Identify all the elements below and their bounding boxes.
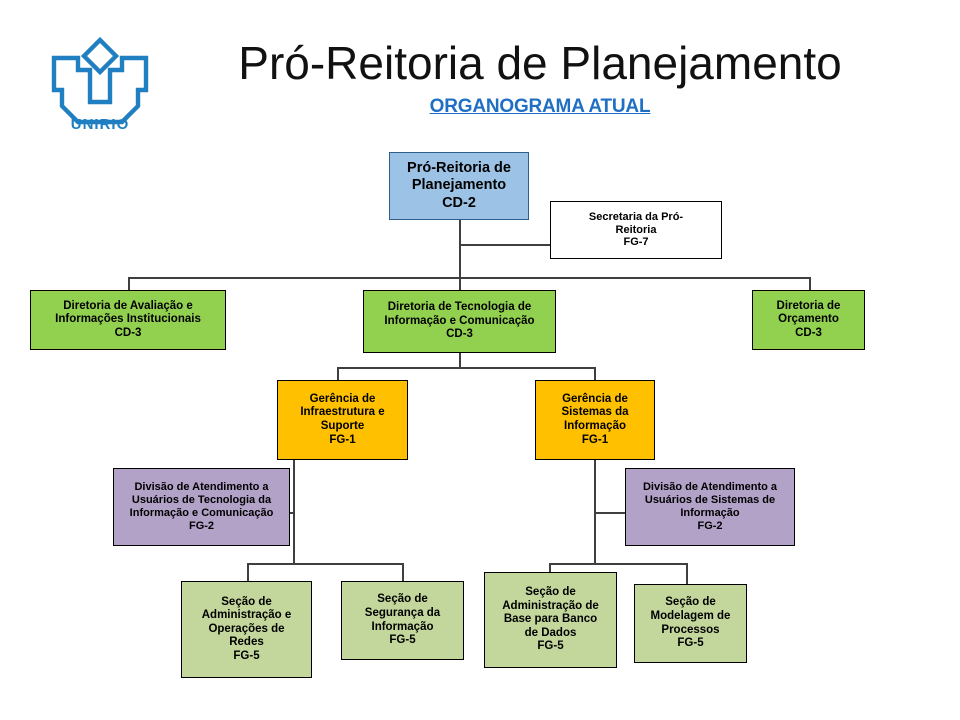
connector-gis-up (337, 367, 339, 380)
node-code: CD-3 (367, 328, 552, 342)
node-line: Diretoria de Avaliação e (34, 300, 222, 314)
node-line: Informação e Comunicação (117, 507, 286, 520)
node-line: Administração e (185, 609, 308, 623)
node-line: Sistemas da (539, 406, 651, 420)
node-gerencia-infraestrutura-suporte[interactable]: Gerência de Infraestrutura e Suporte FG-… (277, 380, 408, 460)
node-secao-administracao-operacoes-redes[interactable]: Seção de Administração e Operações de Re… (181, 581, 312, 678)
node-line: Reitoria (554, 224, 718, 237)
node-line: Diretoria de (756, 300, 861, 314)
node-line: Seção de (488, 586, 613, 600)
node-pro-reitoria-planejamento[interactable]: Pró-Reitoria de Planejamento CD-2 (389, 152, 529, 220)
node-line: Diretoria de Tecnologia de (367, 301, 552, 315)
node-divisao-atendimento-usuarios-sistemas[interactable]: Divisão de Atendimento a Usuários de Sis… (625, 468, 795, 546)
node-code: FG-2 (117, 520, 286, 533)
node-line: Seção de (185, 596, 308, 610)
node-line: Usuários de Tecnologia da (117, 494, 286, 507)
node-line: Processos (638, 624, 743, 638)
node-line: Administração de (488, 600, 613, 614)
node-line: Usuários de Sistemas de (629, 494, 791, 507)
node-line: Planejamento (393, 177, 525, 194)
node-code: FG-5 (488, 640, 613, 654)
node-divisao-atendimento-usuarios-tic[interactable]: Divisão de Atendimento a Usuários de Tec… (113, 468, 290, 546)
node-secretaria-pro-reitoria[interactable]: Secretaria da Pró- Reitoria FG-7 (550, 201, 722, 259)
node-line: Operações de (185, 623, 308, 637)
node-line: Informação (345, 621, 460, 635)
node-code: FG-5 (185, 650, 308, 664)
node-line: Informação (539, 420, 651, 434)
node-line: Seção de (345, 593, 460, 607)
node-code: FG-7 (554, 236, 718, 249)
node-line: Gerência de (281, 393, 404, 407)
node-code: FG-1 (281, 434, 404, 448)
node-code: FG-2 (629, 520, 791, 533)
connector-gsi-up (594, 367, 596, 380)
node-code: CD-3 (34, 327, 222, 341)
node-secao-administracao-banco-dados[interactable]: Seção de Administração de Base para Banc… (484, 572, 617, 668)
connector-ssi-up (402, 563, 404, 581)
connector-sabbd-up (549, 563, 551, 572)
connector-saor-up (247, 563, 249, 581)
node-line: Pró-Reitoria de (393, 160, 525, 177)
connector-dorc-up (809, 277, 811, 290)
page-subtitle: ORGANOGRAMA ATUAL (190, 96, 890, 118)
node-line: Infraestrutura e (281, 406, 404, 420)
logo-wordmark: UNIRIO (44, 116, 156, 133)
connector-daii-up (128, 277, 130, 290)
connector-gis-level4-bus (247, 563, 403, 565)
node-line: Informação e Comunicação (367, 315, 552, 329)
node-line: Divisão de Atendimento a (629, 481, 791, 494)
organogram-slide: UNIRIO Pró-Reitoria de Planejamento ORGA… (0, 0, 960, 720)
node-line: Gerência de (539, 393, 651, 407)
unirio-logo: UNIRIO (44, 28, 156, 140)
node-diretoria-orcamento[interactable]: Diretoria de Orçamento CD-3 (752, 290, 865, 350)
node-secao-modelagem-processos[interactable]: Seção de Modelagem de Processos FG-5 (634, 584, 747, 663)
node-line: Informação (629, 507, 791, 520)
node-secao-seguranca-informacao[interactable]: Seção de Segurança da Informação FG-5 (341, 581, 464, 660)
connector-dtic-down (459, 353, 461, 368)
page-title: Pró-Reitoria de Planejamento (190, 36, 890, 90)
node-line: Seção de (638, 596, 743, 610)
node-line: Divisão de Atendimento a (117, 481, 286, 494)
node-diretoria-tecnologia-informacao[interactable]: Diretoria de Tecnologia de Informação e … (363, 290, 556, 353)
node-line: Secretaria da Pró- (554, 211, 718, 224)
node-line: Segurança da (345, 607, 460, 621)
node-code: FG-5 (345, 634, 460, 648)
node-line: de Dados (488, 627, 613, 641)
connector-gsi-level4-bus (549, 563, 686, 565)
node-line: Orçamento (756, 313, 861, 327)
node-line: Modelagem de (638, 610, 743, 624)
connector-level2-bus (337, 367, 595, 369)
connector-gsi-dausi (594, 512, 626, 514)
connector-level1-bus (128, 277, 810, 279)
node-line: Redes (185, 636, 308, 650)
connector-root-down (459, 220, 461, 278)
node-code: CD-3 (756, 327, 861, 341)
node-code: FG-5 (638, 637, 743, 651)
node-code: FG-1 (539, 434, 651, 448)
node-diretoria-avaliacao-informacoes[interactable]: Diretoria de Avaliação e Informações Ins… (30, 290, 226, 350)
node-gerencia-sistemas-informacao[interactable]: Gerência de Sistemas da Informação FG-1 (535, 380, 655, 460)
node-code: CD-2 (393, 195, 525, 212)
node-line: Base para Banco (488, 613, 613, 627)
node-line: Suporte (281, 420, 404, 434)
connector-smp-up (686, 563, 688, 584)
connector-dtic-up (459, 277, 461, 290)
connector-root-secretaria (459, 244, 550, 246)
node-line: Informações Institucionais (34, 313, 222, 327)
